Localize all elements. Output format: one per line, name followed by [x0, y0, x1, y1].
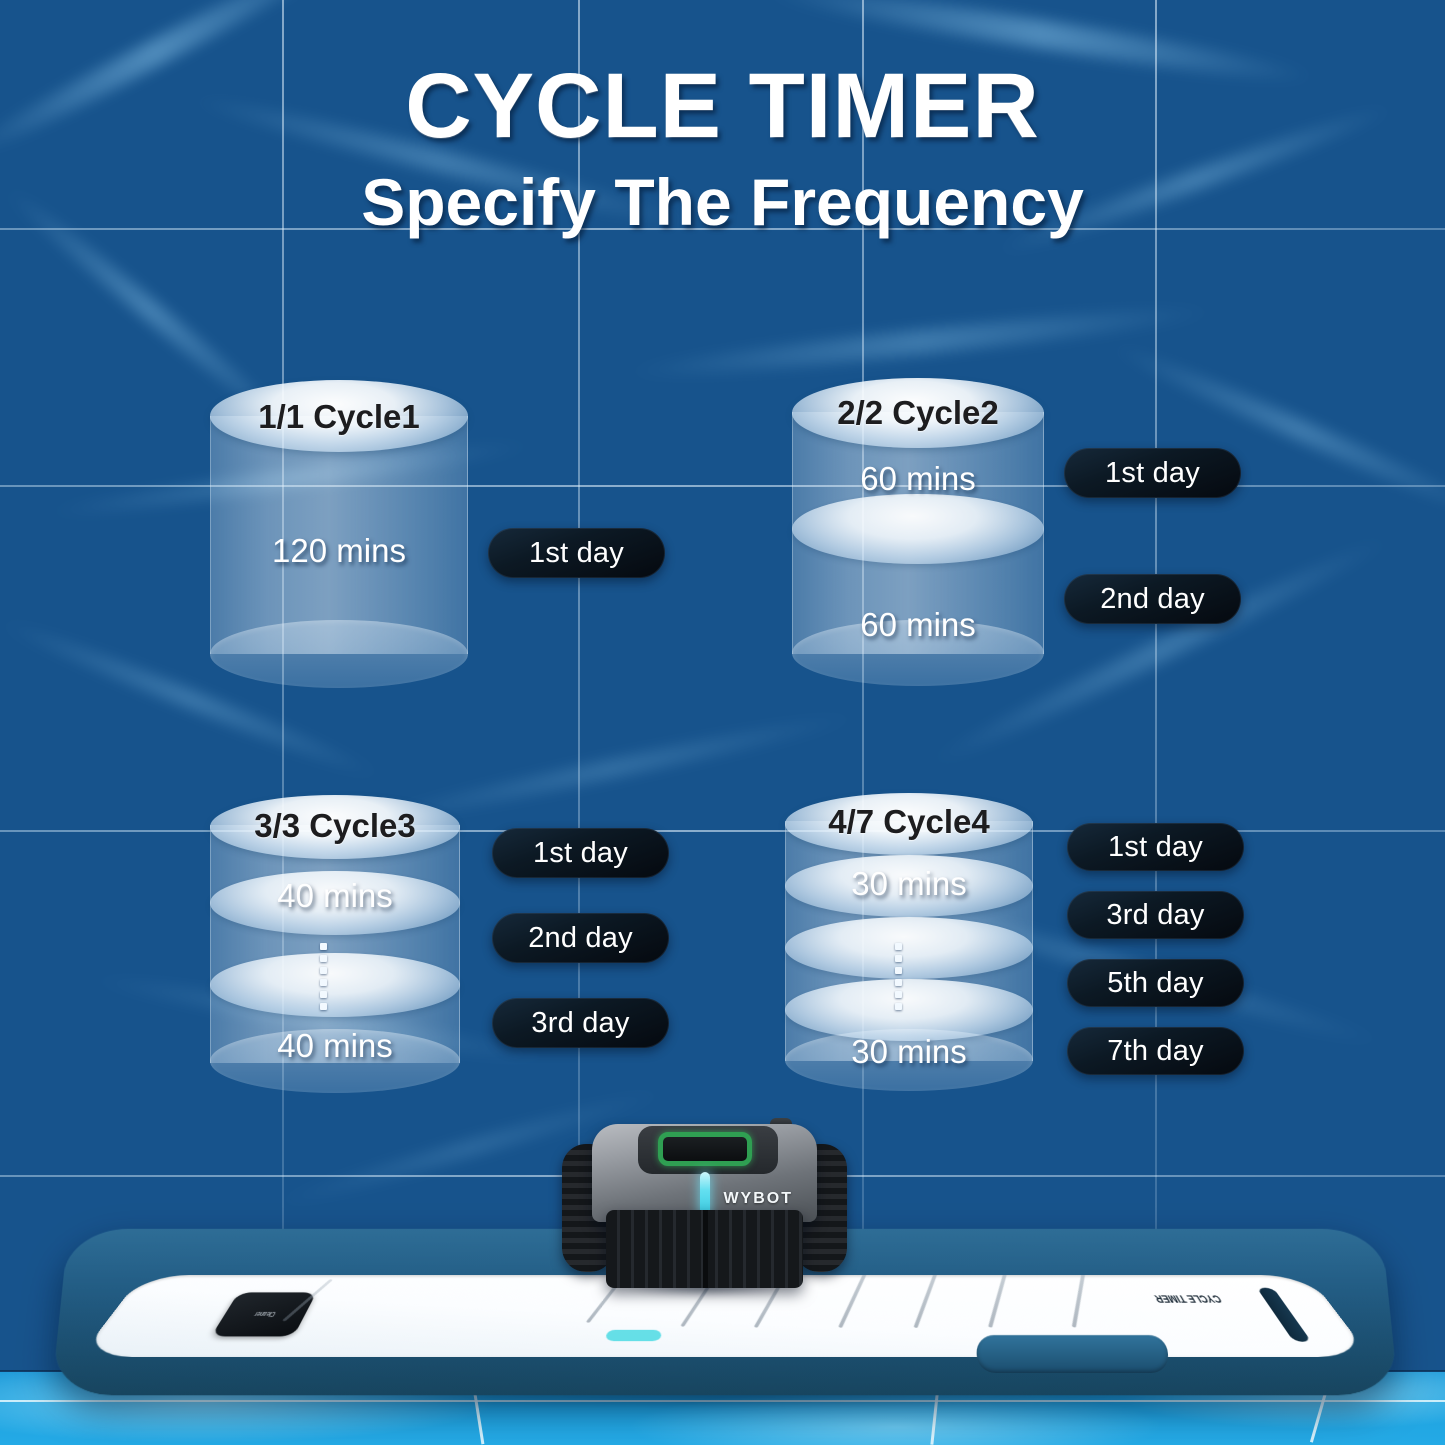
cycle-day-pill: 5th day: [1067, 959, 1244, 1007]
cycle-day-label: 1st day: [533, 837, 628, 870]
cycle-segment-duration: 40 mins: [210, 1027, 460, 1065]
robot-brush-divider: [703, 1210, 708, 1288]
cycle-segment-duration: 60 mins: [792, 606, 1044, 644]
screen-text-line: [1072, 1275, 1087, 1328]
page-subtitle: Specify The Frequency: [0, 164, 1445, 240]
cycle-group-1: 1/1 Cycle1 120 mins 1st day: [210, 380, 730, 680]
cycle-day-label: 1st day: [529, 537, 624, 570]
cycle-day-label: 3rd day: [1106, 899, 1204, 932]
cycle-day-pill: 2nd day: [1064, 574, 1241, 624]
cycle-cap-label: 1/1 Cycle1: [210, 398, 468, 436]
cycle-day-label: 1st day: [1108, 831, 1203, 864]
cycle-day-pill: 7th day: [1067, 1027, 1244, 1075]
cycle-cap-label: 4/7 Cycle4: [785, 803, 1033, 841]
cycle-cap-label: 2/2 Cycle2: [792, 394, 1044, 432]
robot-brush-body: [606, 1210, 803, 1288]
cycle-cap-label: 3/3 Cycle3: [210, 807, 460, 845]
app-icon[interactable]: Cleaner: [211, 1292, 317, 1336]
cycle-segment-duration: 120 mins: [210, 532, 468, 570]
cycle-day-pill: 1st day: [488, 528, 665, 578]
cycle-day-pill: 1st day: [492, 828, 669, 878]
cycle-day-pill: 1st day: [1067, 823, 1244, 871]
phone-side-button[interactable]: [976, 1335, 1169, 1373]
cycle-day-pill: 3rd day: [492, 998, 669, 1048]
cycle-segment-duration: 30 mins: [785, 1033, 1033, 1071]
page-title: CYCLE TIMER: [0, 58, 1445, 156]
cycle-day-label: 2nd day: [1100, 583, 1205, 616]
cycle-day-label: 2nd day: [528, 922, 633, 955]
robot-handle: [658, 1132, 752, 1166]
pool-scene: CYCLE TIMER Specify The Frequency 1/1 Cy…: [0, 0, 1445, 1445]
screen-text-line: [914, 1275, 942, 1328]
cycle-group-2: 2/2 Cycle2 60 mins 60 mins 1st day 2nd d…: [792, 378, 1312, 678]
cycle-day-label: 3rd day: [531, 1007, 629, 1040]
cycle-day-label: 7th day: [1107, 1035, 1204, 1068]
cycle-group-3: 3/3 Cycle3 40 mins 40 mins 1st day 2nd d…: [210, 795, 730, 1085]
screen-text-line: [988, 1275, 1009, 1328]
robot-brand-label: WYBOT: [723, 1190, 793, 1208]
cycle-group-4: 4/7 Cycle4 30 mins 30 mins 1st day 3rd d…: [785, 793, 1305, 1083]
cycle-segment-duration: 30 mins: [785, 865, 1033, 903]
cycle-day-pill: 2nd day: [492, 913, 669, 963]
app-icon-label: Cleaner: [253, 1310, 278, 1318]
header-block: CYCLE TIMER Specify The Frequency: [0, 58, 1445, 240]
cycle-segment-duration: 40 mins: [210, 877, 460, 915]
screen-toggle[interactable]: [605, 1330, 661, 1341]
cycle-day-pill: 3rd day: [1067, 891, 1244, 939]
cycle-segment-duration: 60 mins: [792, 460, 1044, 498]
robot-top-shell: WYBOT: [592, 1124, 817, 1222]
screen-title: CYCLE TIMER: [1152, 1292, 1224, 1304]
phone-notch: [1257, 1288, 1312, 1342]
cycle-ellipsis-dots: [320, 943, 327, 1010]
cycle-ellipsis-dots: [895, 943, 902, 1010]
cycle-day-label: 1st day: [1105, 457, 1200, 490]
pool-robot-cleaner: WYBOT: [562, 1118, 847, 1313]
cycle-day-pill: 1st day: [1064, 448, 1241, 498]
cycle-day-label: 5th day: [1107, 967, 1204, 1000]
